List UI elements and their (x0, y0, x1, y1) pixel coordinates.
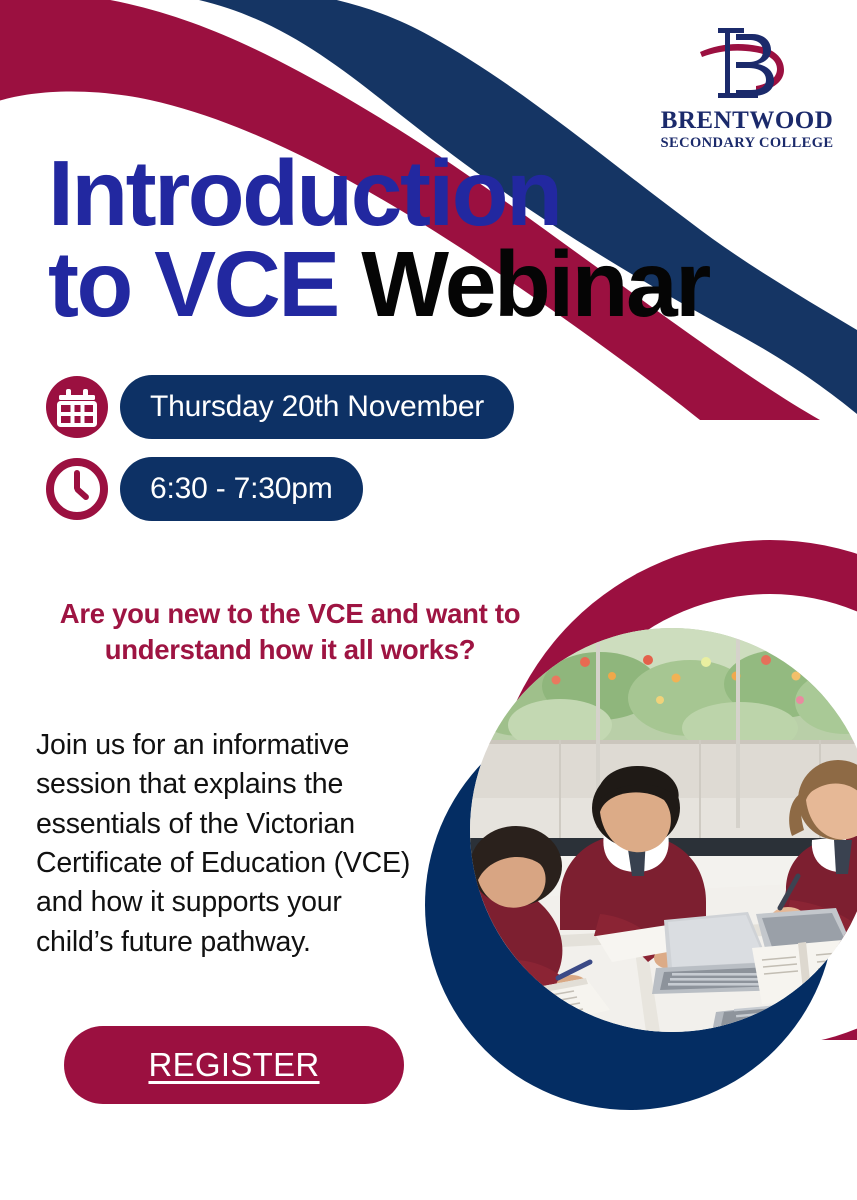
question-headline: Are you new to the VCE and want to under… (30, 596, 550, 669)
brentwood-logo: BRENTWOOD SECONDARY COLLEGE (659, 22, 835, 152)
register-button[interactable]: REGISTER (64, 1026, 404, 1104)
event-details: Thursday 20th November 6:30 - 7:30pm (44, 374, 514, 538)
event-date-row: Thursday 20th November (44, 374, 514, 440)
logo-school-name: BRENTWOOD (659, 108, 835, 133)
event-date-pill: Thursday 20th November (120, 375, 514, 439)
event-time-pill: 6:30 - 7:30pm (120, 457, 363, 521)
headline-line-2-blue: to VCE (48, 232, 361, 336)
event-time-row: 6:30 - 7:30pm (44, 456, 514, 522)
headline-line-1: Introduction (48, 141, 560, 245)
body-paragraph: Join us for an informative session that … (36, 726, 426, 962)
headline-line-2-black: Webinar (361, 232, 709, 336)
students-photo (466, 628, 857, 1032)
clock-icon (44, 456, 110, 522)
calendar-icon (44, 374, 110, 440)
navy-circle-accent (425, 700, 835, 1110)
logo-school-subtitle: SECONDARY COLLEGE (659, 135, 835, 152)
page-title: Introduction to VCE Webinar (48, 148, 709, 330)
brentwood-b-monogram-icon (692, 22, 802, 104)
poster: BRENTWOOD SECONDARY COLLEGE Introduction… (0, 0, 857, 1200)
